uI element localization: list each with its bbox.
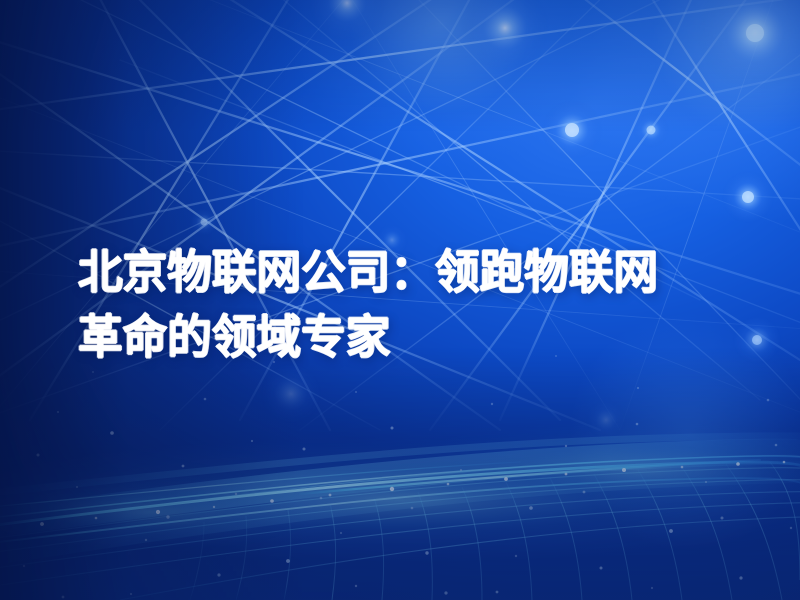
headline-line-2: 革命的领域专家 bbox=[78, 305, 738, 370]
headline-line-1: 北京物联网公司：领跑物联网 bbox=[78, 240, 738, 305]
headline-block: 北京物联网公司：领跑物联网 革命的领域专家 bbox=[78, 240, 758, 370]
banner-image: 北京物联网公司：领跑物联网 革命的领域专家 bbox=[0, 0, 800, 600]
